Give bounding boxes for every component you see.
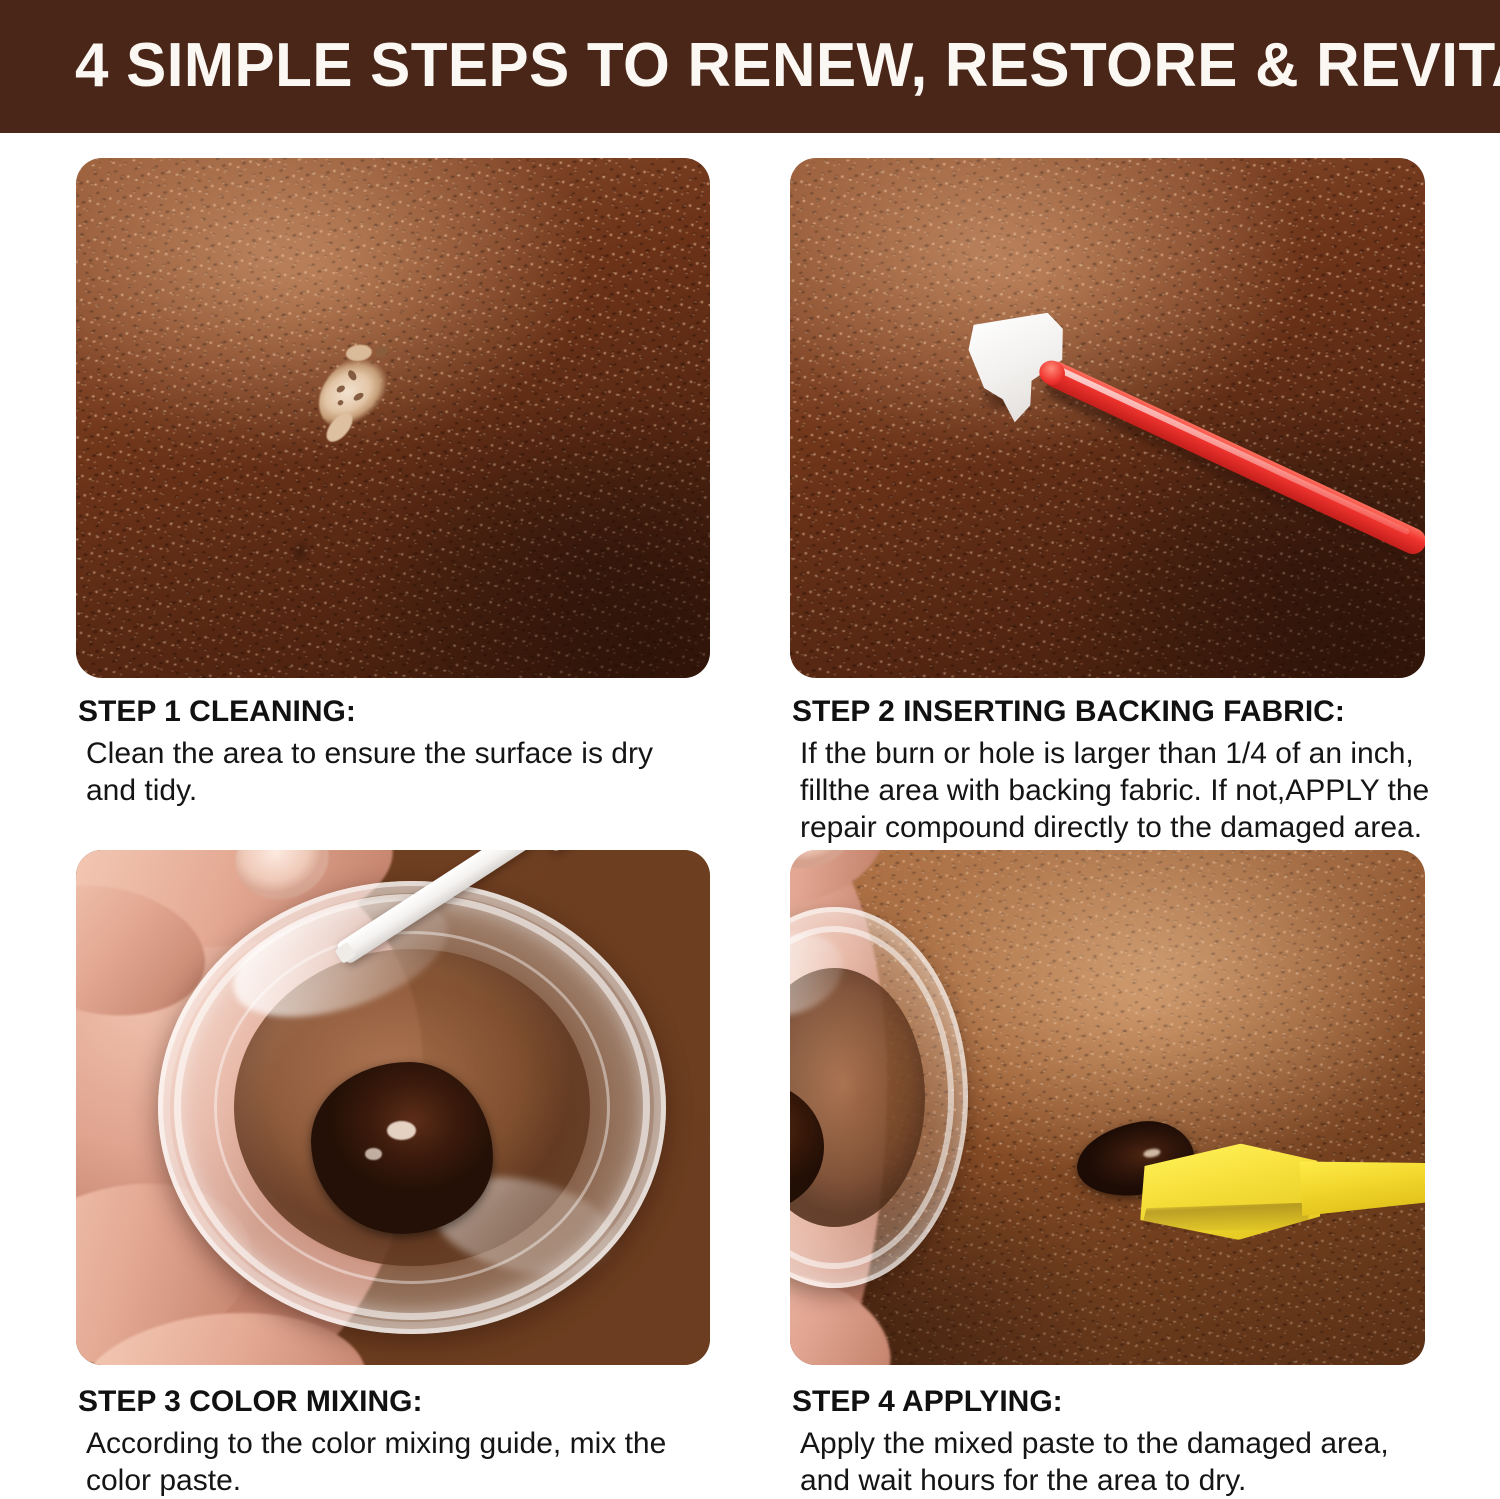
paste-highlight: [387, 1121, 416, 1140]
step-2-photo: [790, 158, 1425, 678]
step-1-photo: [76, 158, 710, 678]
step-3-heading: STEP 3 COLOR MIXING:: [78, 1383, 738, 1421]
step-3-photo: [76, 850, 710, 1365]
step-1-body: Clean the area to ensure the surface is …: [86, 735, 706, 809]
step-1-caption: STEP 1 CLEANING: Clean the area to ensur…: [78, 693, 738, 809]
step-2-heading: STEP 2 INSERTING BACKING FABRIC:: [792, 693, 1452, 731]
step-2-caption: STEP 2 INSERTING BACKING FABRIC: If the …: [792, 693, 1452, 846]
yellow-applicator-spatula: [1137, 1131, 1425, 1244]
paste-highlight-secondary: [365, 1148, 381, 1160]
step-4-body: Apply the mixed paste to the damaged are…: [800, 1425, 1440, 1499]
step-3-caption: STEP 3 COLOR MIXING: According to the co…: [78, 1383, 738, 1499]
step-1-heading: STEP 1 CLEANING:: [78, 693, 738, 731]
header-banner: 4 SIMPLE STEPS TO RENEW, RESTORE & REVIT…: [0, 0, 1500, 133]
step-4-heading: STEP 4 APPLYING:: [792, 1383, 1452, 1421]
spatula-grip: [1299, 1147, 1425, 1218]
steps-grid: STEP 1 CLEANING: Clean the area to ensur…: [0, 133, 1500, 1483]
step-4-photo: [790, 850, 1425, 1365]
clear-mixing-cup: [158, 881, 665, 1334]
step-3-body: According to the color mixing guide, mix…: [86, 1425, 706, 1499]
step-4-caption: STEP 4 APPLYING: Apply the mixed paste t…: [792, 1383, 1452, 1499]
page-title: 4 SIMPLE STEPS TO RENEW, RESTORE & REVIT…: [75, 30, 1500, 102]
step-2-body: If the burn or hole is larger than 1/4 o…: [800, 735, 1440, 846]
